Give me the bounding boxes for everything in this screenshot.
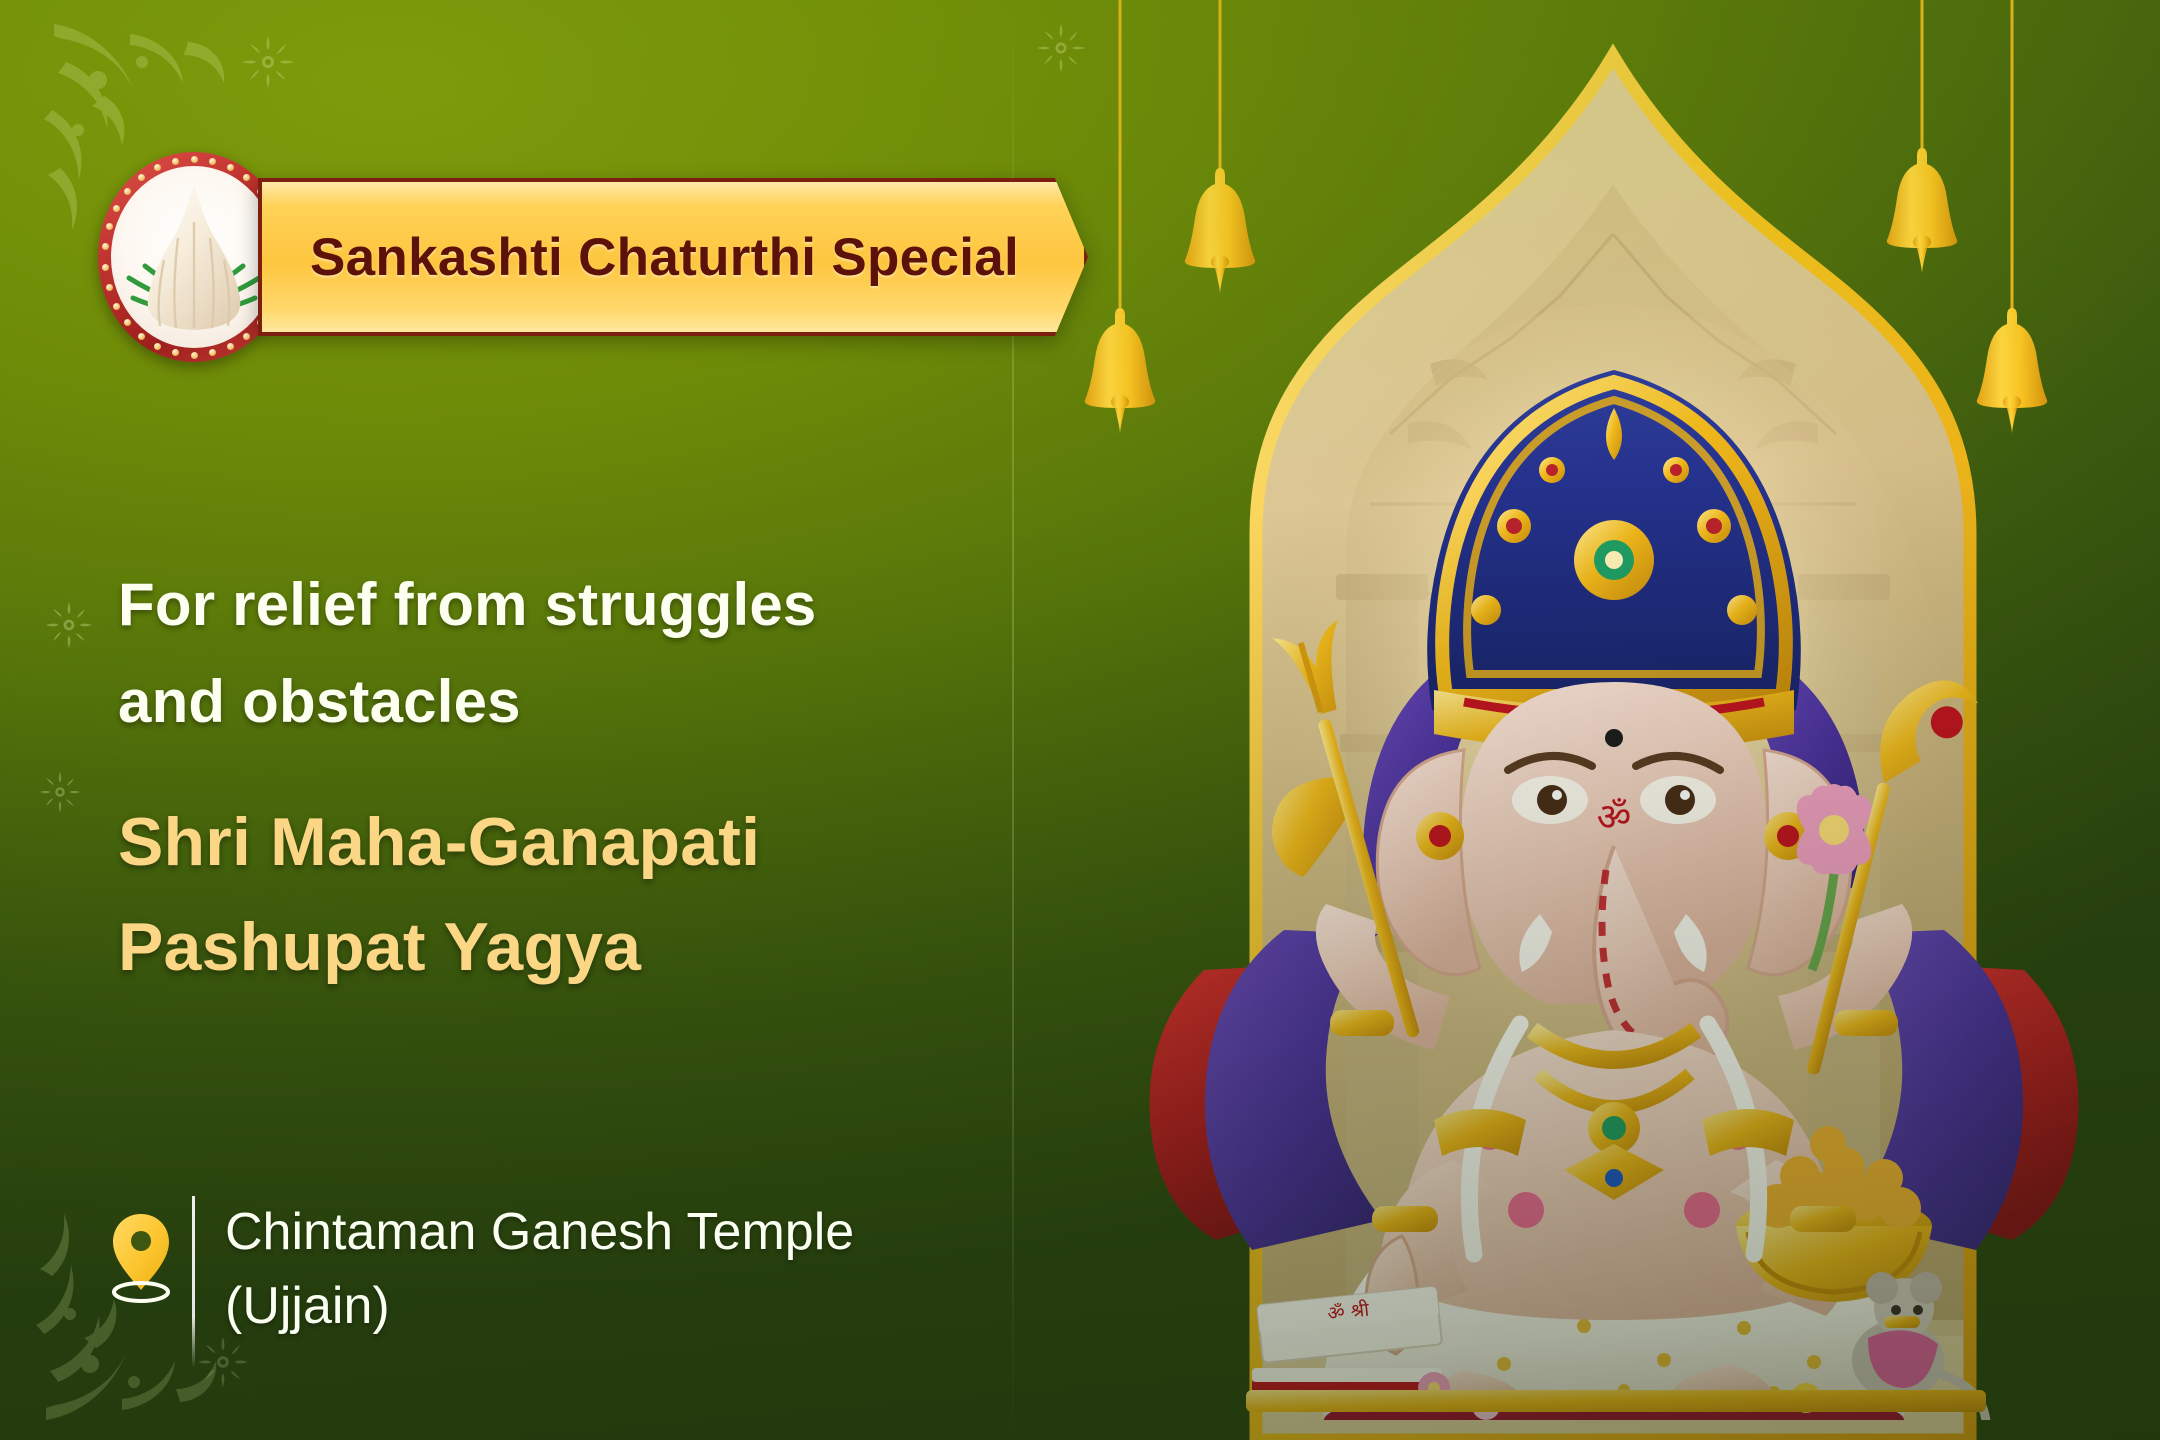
medallion-bead bbox=[113, 303, 120, 310]
medallion-bead bbox=[243, 333, 250, 340]
medallion-bead bbox=[227, 343, 234, 350]
medallion-bead bbox=[227, 164, 234, 171]
svg-text:ॐ श्री: ॐ श्री bbox=[1326, 1298, 1371, 1325]
svg-text:ॐ: ॐ bbox=[1597, 795, 1632, 839]
star-burst-icon bbox=[240, 34, 296, 95]
medallion-bead bbox=[172, 158, 179, 165]
location-text: Chintaman Ganesh Temple (Ujjain) bbox=[225, 1196, 854, 1344]
star-burst-icon bbox=[38, 770, 82, 819]
ganesha-artwork-panel: ॐ bbox=[1060, 0, 2160, 1440]
page-title: Shri Maha-Ganapati Pashupat Yagya bbox=[118, 790, 978, 1001]
medallion-bead bbox=[209, 158, 216, 165]
medallion-bead bbox=[106, 223, 113, 230]
headline: For relief from struggles and obstacles bbox=[118, 556, 948, 750]
headline-line-2: and obstacles bbox=[118, 653, 948, 750]
modak-sweet-icon bbox=[136, 182, 252, 332]
location-block: Chintaman Ganesh Temple (Ujjain) bbox=[108, 1196, 854, 1368]
star-burst-icon bbox=[44, 600, 94, 655]
title-line-1: Shri Maha-Ganapati bbox=[118, 790, 978, 895]
medallion-bead bbox=[191, 156, 198, 163]
ganesha-idol-image: ॐ bbox=[1134, 330, 2094, 1420]
location-line-1: Chintaman Ganesh Temple bbox=[225, 1196, 854, 1270]
medallion-bead bbox=[191, 352, 198, 359]
medallion-bead bbox=[113, 205, 120, 212]
medallion-bead bbox=[102, 264, 109, 271]
medallion-bead bbox=[106, 284, 113, 291]
location-line-2: (Ujjain) bbox=[225, 1270, 854, 1344]
medallion-bead bbox=[243, 174, 250, 181]
headline-line-1: For relief from struggles bbox=[118, 556, 948, 653]
location-divider bbox=[192, 1196, 195, 1368]
promo-banner: ॐ bbox=[0, 0, 2160, 1440]
medallion-bead bbox=[138, 333, 145, 340]
special-badge: Sankashti Chaturthi Special bbox=[258, 178, 1088, 336]
badge-label: Sankashti Chaturthi Special bbox=[258, 178, 1088, 336]
map-pin-icon bbox=[108, 1212, 174, 1304]
title-line-2: Pashupat Yagya bbox=[118, 895, 978, 1000]
